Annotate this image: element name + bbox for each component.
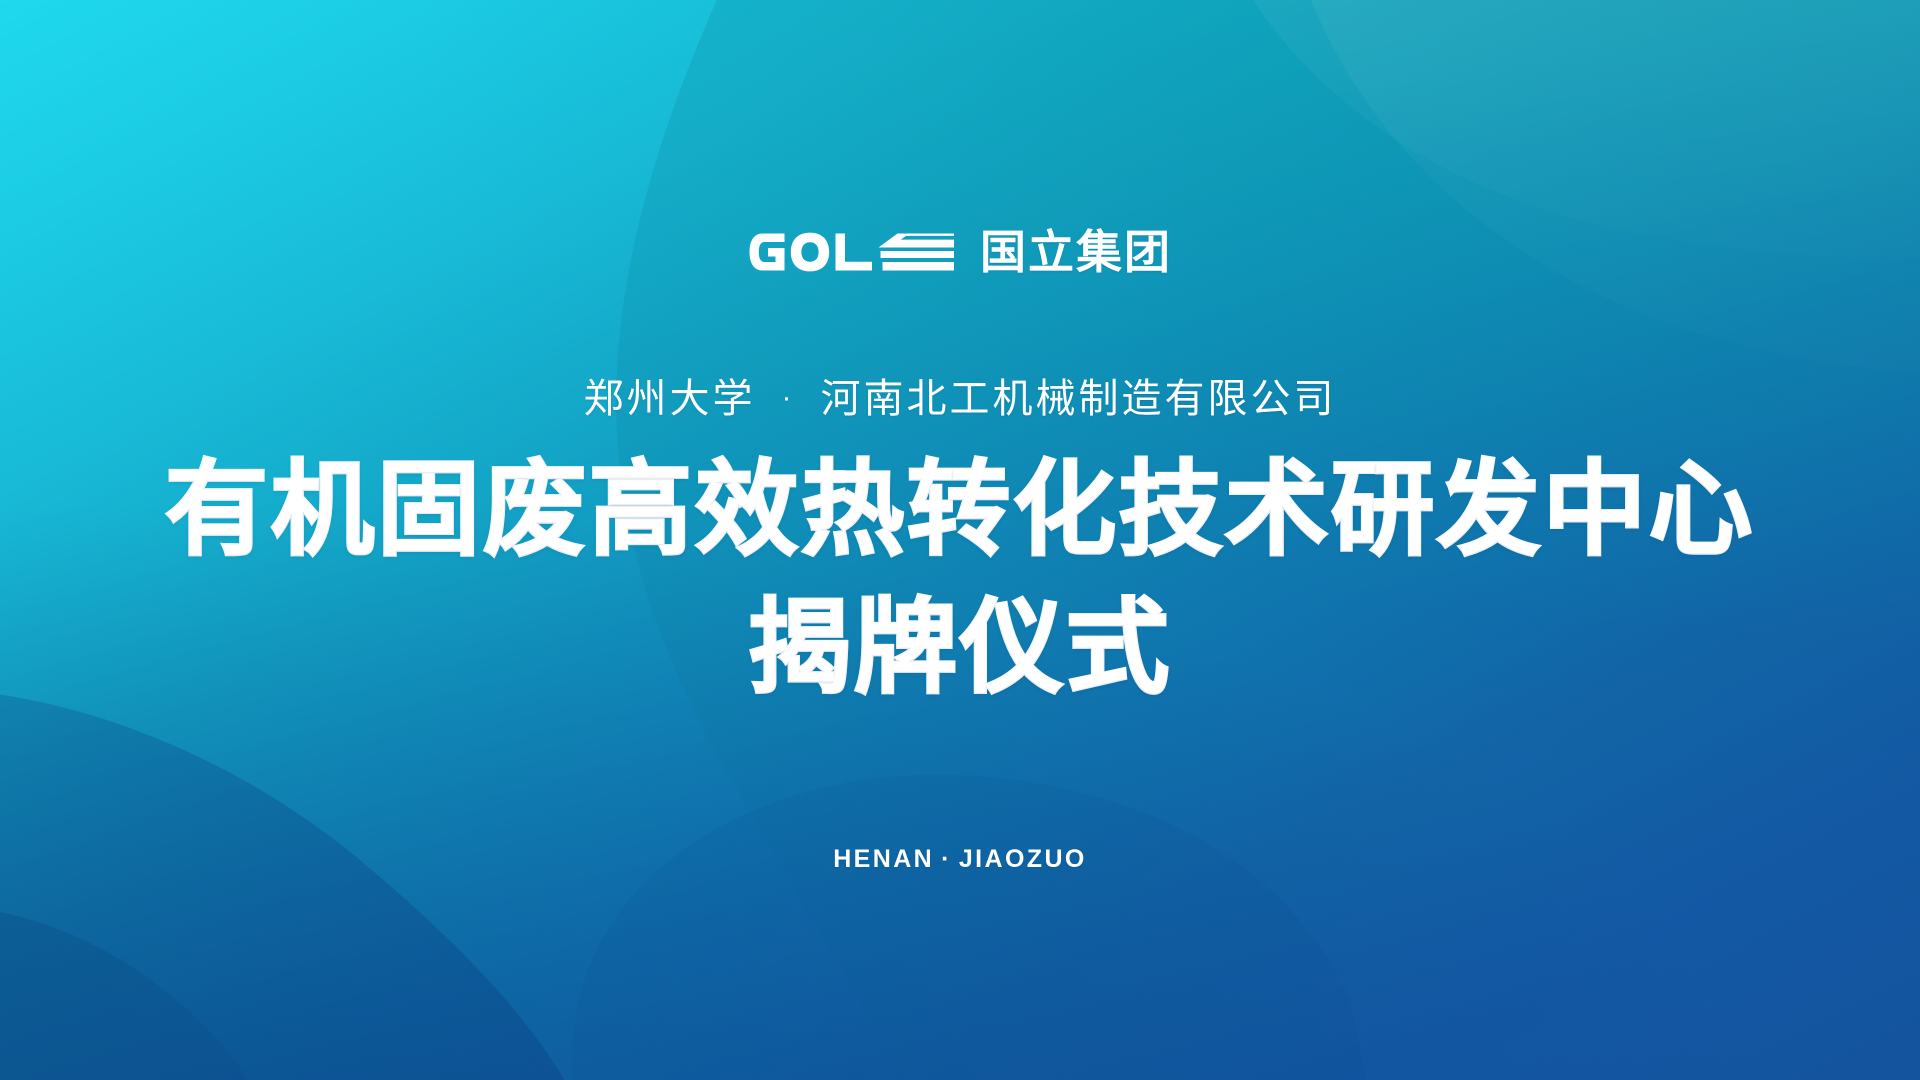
subtitle-left: 郑州大学 <box>584 377 756 421</box>
brand-logo: 国立集团 <box>0 222 1920 282</box>
main-title: 有机固废高效热转化技术研发中心 揭牌仪式 <box>0 448 1920 709</box>
brand-chinese-name: 国立集团 <box>980 229 1172 275</box>
subtitle-right: 河南北工机械制造有限公司 <box>821 377 1337 421</box>
title-line-2: 揭牌仪式 <box>0 586 1920 710</box>
footer-separator: · <box>934 845 959 874</box>
title-line-1: 有机固废高效热转化技术研发中心 <box>0 448 1920 572</box>
subtitle: 郑州大学·河南北工机械制造有限公司 <box>0 374 1920 424</box>
footer-left: HENAN <box>833 845 934 873</box>
footer-right: JIAOZUO <box>959 845 1087 873</box>
slide-content: 国立集团 郑州大学·河南北工机械制造有限公司 有机固废高效热转化技术研发中心 揭… <box>0 0 1920 1080</box>
subtitle-separator: · <box>756 379 821 417</box>
gole-logotype-icon <box>748 227 958 277</box>
footer-location: HENAN·JIAOZUO <box>0 845 1920 874</box>
ceremony-banner-slide: 国立集团 郑州大学·河南北工机械制造有限公司 有机固废高效热转化技术研发中心 揭… <box>0 0 1920 1080</box>
